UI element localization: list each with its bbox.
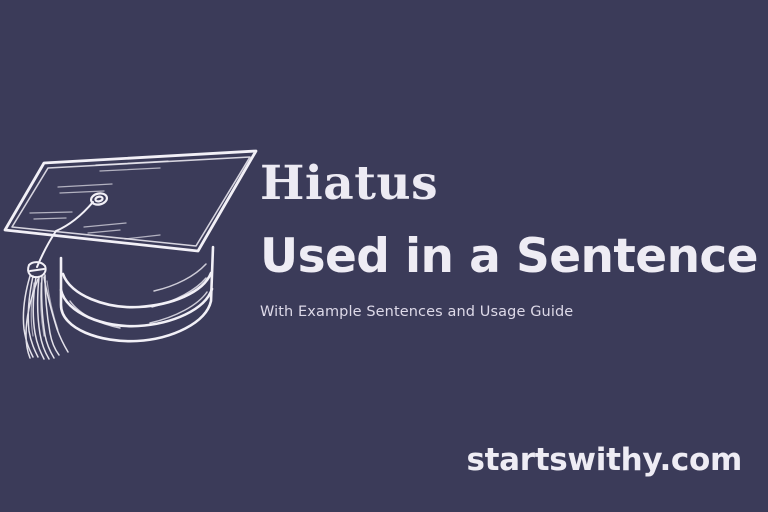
cap-crown xyxy=(61,247,213,341)
cap-board-hatching xyxy=(30,161,168,239)
banner-card: Hiatus Used in a Sentence With Example S… xyxy=(0,0,768,512)
tagline-text: With Example Sentences and Usage Guide xyxy=(260,305,760,320)
cap-button xyxy=(90,192,108,206)
headline-block: Hiatus Used in a Sentence With Example S… xyxy=(260,160,760,320)
site-brand: startswithy.com xyxy=(466,445,742,476)
headline-text: Used in a Sentence xyxy=(260,233,760,280)
cap-board xyxy=(5,151,256,251)
cap-board-inner xyxy=(12,157,250,246)
graduation-cap-illustration xyxy=(0,143,262,368)
word-title: Hiatus xyxy=(260,160,760,207)
tassel-knot xyxy=(28,262,46,277)
